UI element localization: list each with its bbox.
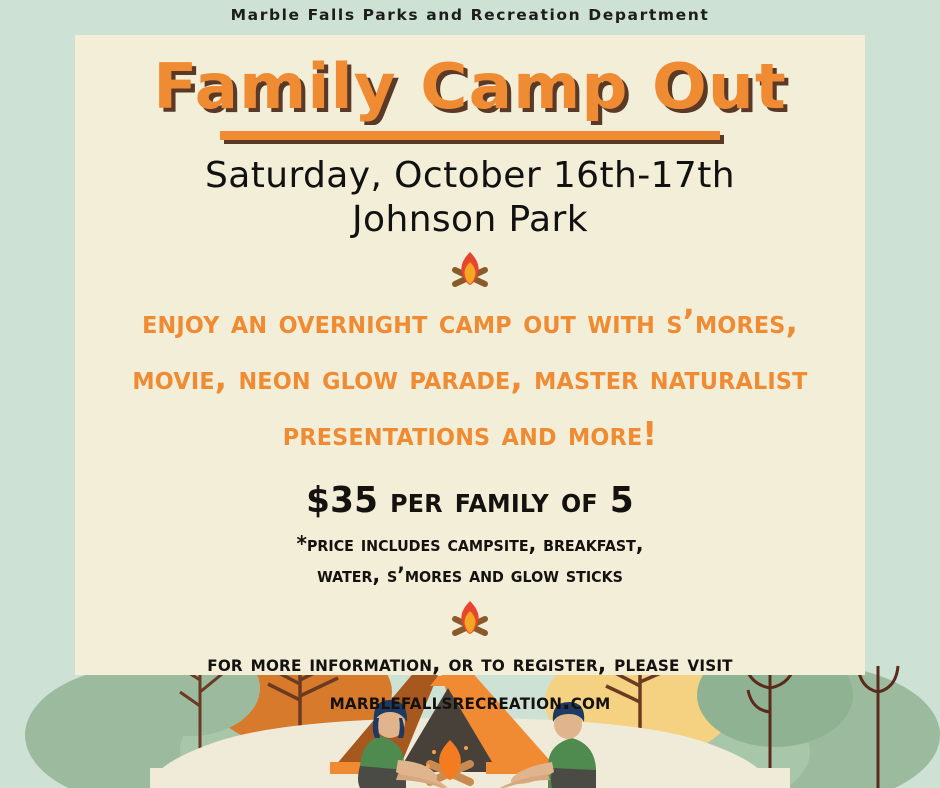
campfire-icon [446, 250, 494, 290]
description-line-3: presentations and more! [110, 406, 830, 462]
event-description: Enjoy an overnight camp out with s’mores… [110, 294, 830, 462]
registration-info: For more information, or to register, pl… [112, 645, 828, 721]
flyer-card: Family Camp Out Saturday, October 16th-1… [75, 35, 865, 675]
description-line-2: movie, neon glow parade, master naturali… [110, 350, 830, 406]
price-note: *Price includes campsite, breakfast, wat… [112, 529, 828, 591]
page-title: Family Camp Out [78, 51, 862, 123]
title-underline [220, 131, 720, 140]
organization-header: Marble Falls Parks and Recreation Depart… [0, 6, 940, 24]
title-block: Family Camp Out [93, 51, 847, 129]
description-line-1: Enjoy an overnight camp out with s’mores… [110, 294, 830, 350]
campfire-icon-lower [446, 599, 494, 639]
camper-male-shorts [551, 768, 596, 788]
price-note-line-2: water, s’mores and glow sticks [112, 560, 828, 591]
website-url[interactable]: marblefallsrecreation.com [112, 683, 828, 721]
info-line-1: For more information, or to register, pl… [112, 645, 828, 683]
event-date: Saturday, October 16th-17th [93, 154, 847, 198]
flyer-poster: Marble Falls Parks and Recreation Depart… [0, 0, 940, 788]
price-text: $35 per family of 5 [112, 480, 828, 521]
price-note-line-1: *Price includes campsite, breakfast, [112, 529, 828, 560]
event-location: Johnson Park [93, 198, 847, 242]
